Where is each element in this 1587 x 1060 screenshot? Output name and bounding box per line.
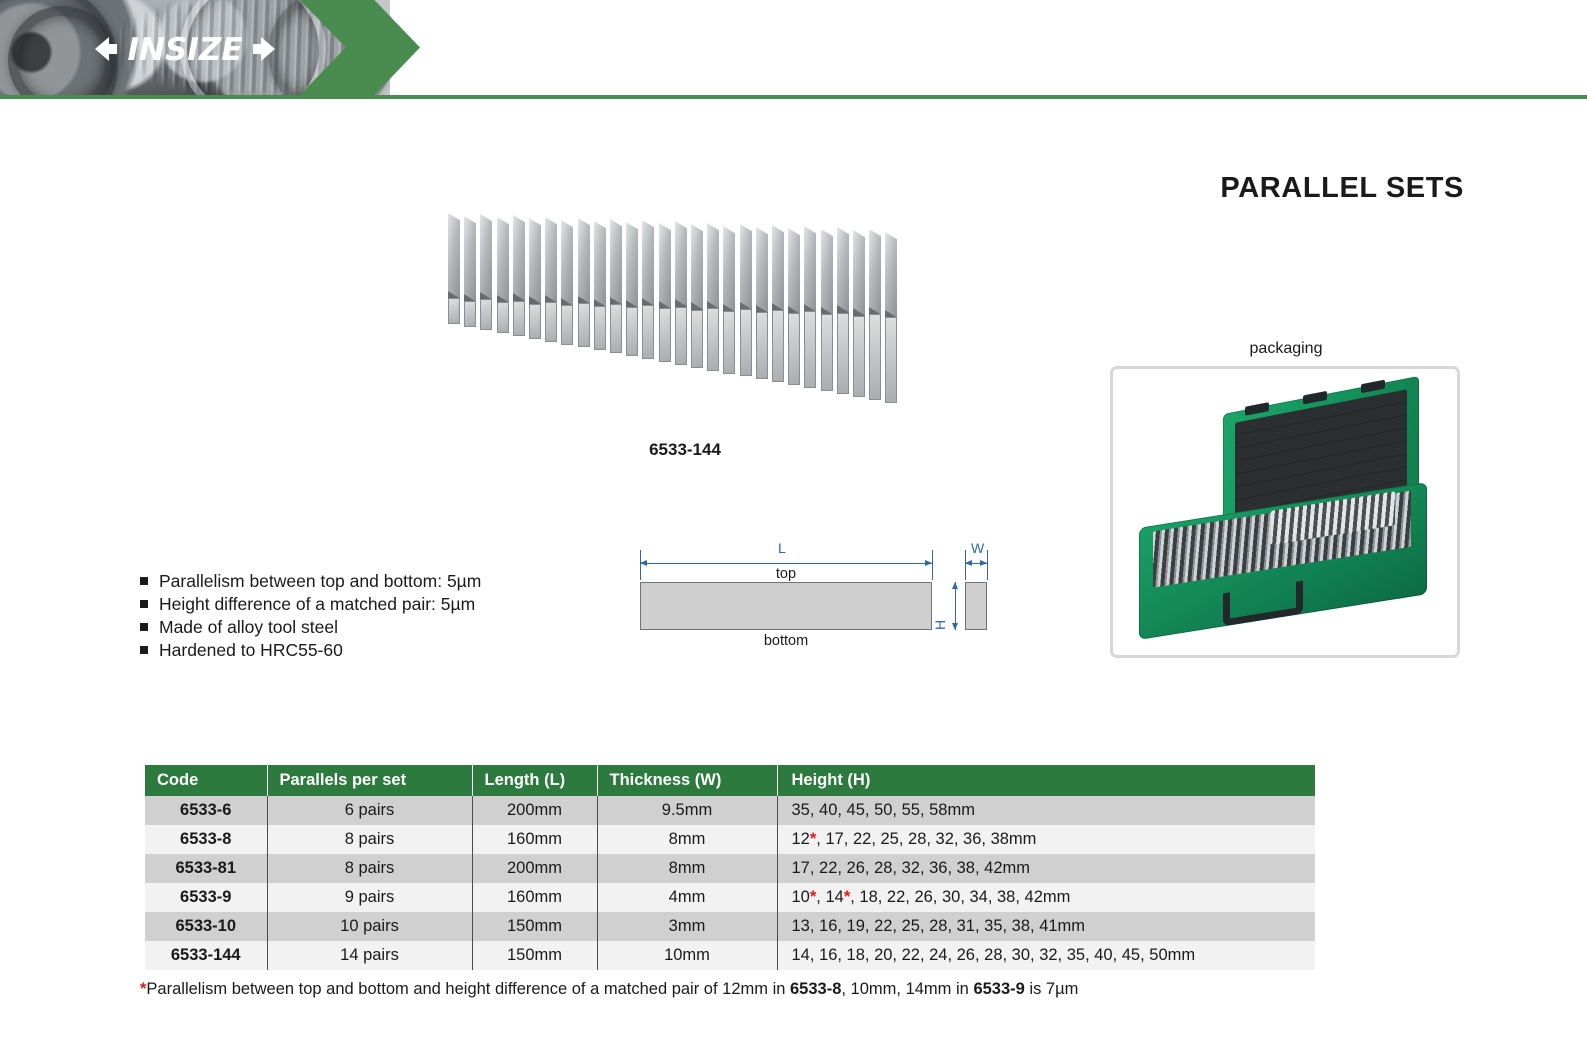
bar-end-face	[659, 308, 671, 362]
bar-top-face	[821, 229, 833, 314]
specification-table: Code Parallels per set Length (L) Thickn…	[145, 765, 1315, 970]
bar-top-face	[545, 217, 557, 302]
dim-height-label: H	[932, 620, 948, 630]
feature-text: Height difference of a matched pair: 5µm	[159, 593, 475, 616]
square-bullet-icon	[140, 577, 148, 585]
feature-text: Hardened to HRC55-60	[159, 639, 343, 662]
product-caption: 6533-144	[430, 440, 940, 460]
height-values: 17, 22, 26, 28, 32, 36, 38, 42mm	[792, 859, 1031, 877]
cell-pairs: 9 pairs	[267, 883, 472, 912]
cell-height: 13, 16, 19, 22, 25, 28, 31, 35, 38, 41mm	[777, 912, 1315, 941]
dim-width-label: W	[971, 540, 984, 556]
page-title: PARALLEL SETS	[1220, 172, 1464, 205]
insize-logo-icon: INSIZE	[95, 27, 275, 71]
bar-top-face	[448, 213, 460, 298]
height-values: 13, 16, 19, 22, 25, 28, 31, 35, 38, 41mm	[792, 917, 1086, 935]
bar-top-face	[594, 221, 606, 306]
bottom-face-label: bottom	[640, 633, 932, 649]
table-row: 6533-88 pairs160mm8mm12*, 17, 22, 25, 28…	[145, 825, 1315, 854]
dim-extension-line	[932, 550, 933, 580]
bar-end-face	[788, 313, 800, 385]
table-header-row: Code Parallels per set Length (L) Thickn…	[145, 765, 1315, 796]
footnote-text: is 7µm	[1025, 980, 1079, 998]
parallel-bar	[756, 227, 768, 372]
cell-code: 6533-81	[145, 854, 267, 883]
parallel-bar	[464, 216, 476, 320]
packaging-image-frame	[1110, 366, 1460, 658]
bar-end-face	[723, 311, 735, 374]
table-row: 6533-66 pairs200mm9.5mm35, 40, 45, 50, 5…	[145, 796, 1315, 825]
parallel-bars-illustration	[430, 190, 940, 445]
table-footnote: *Parallelism between top and bottom and …	[140, 980, 1078, 999]
parallel-bar	[853, 230, 865, 389]
height-values: 12	[792, 830, 810, 848]
carrying-case-illustration	[1139, 395, 1435, 633]
parallel-bar	[723, 226, 735, 367]
bar-top-face	[756, 227, 768, 312]
bar-end-face	[853, 316, 865, 397]
cell-length: 200mm	[472, 854, 597, 883]
dim-arrow-icon	[965, 560, 972, 566]
bar-end-face	[869, 314, 881, 400]
footnote-text: Parallelism between top and bottom and h…	[146, 980, 790, 998]
dim-arrow-icon	[925, 560, 932, 566]
bar-top-face	[869, 229, 881, 314]
bar-top-face	[675, 221, 687, 306]
dim-arrow-icon	[640, 560, 647, 566]
bar-end-face	[610, 304, 622, 353]
cell-length: 160mm	[472, 825, 597, 854]
column-header-thickness: Thickness (W)	[597, 765, 777, 796]
feature-text: Made of alloy tool steel	[159, 616, 338, 639]
column-header-height: Height (H)	[777, 765, 1315, 796]
bar-end-face	[885, 317, 897, 403]
bar-top-face	[804, 226, 816, 311]
cell-length: 200mm	[472, 796, 597, 825]
bar-end-face	[756, 312, 768, 379]
packaging-label: packaging	[1112, 340, 1460, 358]
square-bullet-icon	[140, 623, 148, 631]
cell-length: 150mm	[472, 912, 597, 941]
cell-code: 6533-8	[145, 825, 267, 854]
parallel-bar	[578, 218, 590, 340]
height-values: 14, 16, 18, 20, 22, 24, 26, 28, 30, 32, …	[792, 946, 1196, 964]
bar-end-face	[448, 298, 460, 324]
cell-height: 35, 40, 45, 50, 55, 58mm	[777, 796, 1315, 825]
parallel-bar	[610, 219, 622, 346]
parallel-side-view	[965, 582, 987, 630]
table-row: 6533-818 pairs200mm8mm17, 22, 26, 28, 32…	[145, 854, 1315, 883]
bar-end-face	[837, 313, 849, 394]
bar-end-face	[691, 310, 703, 368]
feature-text: Parallelism between top and bottom: 5µm	[159, 570, 481, 593]
dimension-diagram: L top bottom H W	[630, 530, 1010, 665]
cell-length: 150mm	[472, 941, 597, 970]
bar-top-face	[740, 224, 752, 309]
parallel-bar	[740, 224, 752, 369]
parallel-bar	[659, 223, 671, 355]
top-face-label: top	[640, 566, 932, 582]
cell-thickness: 9.5mm	[597, 796, 777, 825]
insize-logo: INSIZE	[95, 27, 275, 71]
parallel-bar	[691, 224, 703, 360]
footnote-text: , 10mm, 14mm in	[841, 980, 973, 998]
feature-item: Hardened to HRC55-60	[140, 639, 610, 662]
bar-end-face	[626, 307, 638, 356]
bar-end-face	[578, 303, 590, 347]
bar-top-face	[885, 232, 897, 317]
bar-top-face	[772, 225, 784, 310]
bar-end-face	[675, 307, 687, 365]
parallel-bar	[869, 229, 881, 393]
parallel-bar	[448, 213, 460, 317]
dim-arrow-icon	[980, 560, 987, 566]
bar-end-face	[529, 304, 541, 339]
insize-wordmark: INSIZE	[128, 32, 243, 68]
table-row: 6533-99 pairs160mm4mm10*, 14*, 18, 22, 2…	[145, 883, 1315, 912]
parallel-bar	[594, 221, 606, 343]
cell-length: 160mm	[472, 883, 597, 912]
cell-thickness: 8mm	[597, 825, 777, 854]
feature-item: Parallelism between top and bottom: 5µm	[140, 570, 610, 593]
dim-length-label: L	[778, 540, 786, 556]
bar-top-face	[513, 215, 525, 300]
cell-height: 14, 16, 18, 20, 22, 24, 26, 28, 30, 32, …	[777, 941, 1315, 970]
cell-code: 6533-6	[145, 796, 267, 825]
bar-top-face	[578, 218, 590, 303]
feature-list: Parallelism between top and bottom: 5µmH…	[140, 570, 610, 662]
cell-pairs: 14 pairs	[267, 941, 472, 970]
bar-top-face	[707, 223, 719, 308]
bar-top-face	[626, 222, 638, 307]
parallel-bar	[788, 228, 800, 378]
dim-extension-line	[987, 550, 988, 580]
bar-top-face	[659, 223, 671, 308]
dim-arrow-icon	[952, 582, 958, 589]
cell-thickness: 8mm	[597, 854, 777, 883]
footnote-code-ref: 6533-8	[790, 980, 841, 998]
header-green-rule	[0, 95, 1587, 99]
case-latch-icon	[1303, 391, 1327, 405]
cell-pairs: 8 pairs	[267, 854, 472, 883]
height-values: , 14	[816, 888, 844, 906]
bar-end-face	[545, 302, 557, 342]
height-values: 10	[792, 888, 810, 906]
cell-height: 10*, 14*, 18, 22, 26, 30, 34, 38, 42mm	[777, 883, 1315, 912]
bar-top-face	[561, 220, 573, 305]
bar-top-face	[497, 217, 509, 302]
feature-item: Height difference of a matched pair: 5µm	[140, 593, 610, 616]
bar-top-face	[642, 220, 654, 305]
parallel-front-view	[640, 582, 932, 630]
bar-end-face	[594, 306, 606, 350]
bar-top-face	[610, 219, 622, 304]
case-latch-icon	[1361, 380, 1385, 394]
parallel-bar	[561, 220, 573, 338]
cell-thickness: 4mm	[597, 883, 777, 912]
parallel-bar	[497, 217, 509, 326]
cell-pairs: 6 pairs	[267, 796, 472, 825]
cell-height: 12*, 17, 22, 25, 28, 32, 36, 38mm	[777, 825, 1315, 854]
column-header-code: Code	[145, 765, 267, 796]
square-bullet-icon	[140, 646, 148, 654]
parallel-bar	[642, 220, 654, 352]
table-row: 6533-14414 pairs150mm10mm14, 16, 18, 20,…	[145, 941, 1315, 970]
bar-top-face	[464, 216, 476, 301]
bar-top-face	[723, 226, 735, 311]
parallel-bar	[707, 223, 719, 364]
parallel-bar	[821, 229, 833, 384]
square-bullet-icon	[140, 600, 148, 608]
cell-thickness: 3mm	[597, 912, 777, 941]
parallel-bar	[675, 221, 687, 357]
parallel-bar	[772, 225, 784, 375]
parallel-bar	[804, 226, 816, 381]
bar-end-face	[497, 302, 509, 333]
product-photo	[430, 190, 940, 445]
cell-code: 6533-10	[145, 912, 267, 941]
bar-end-face	[561, 305, 573, 345]
bar-end-face	[804, 311, 816, 388]
height-values: , 18, 22, 26, 30, 34, 38, 42mm	[850, 888, 1070, 906]
parallel-bar	[513, 215, 525, 328]
cell-height: 17, 22, 26, 28, 32, 36, 38, 42mm	[777, 854, 1315, 883]
cell-code: 6533-144	[145, 941, 267, 970]
bar-end-face	[821, 314, 833, 391]
footnote-code-ref: 6533-9	[973, 980, 1024, 998]
bar-end-face	[740, 309, 752, 376]
bar-end-face	[642, 305, 654, 359]
dim-length-line	[640, 563, 932, 564]
cell-thickness: 10mm	[597, 941, 777, 970]
parallel-bar	[480, 214, 492, 323]
bar-top-face	[788, 228, 800, 313]
bar-top-face	[480, 214, 492, 299]
height-values: 35, 40, 45, 50, 55, 58mm	[792, 801, 975, 819]
parallel-bar	[545, 217, 557, 335]
cell-pairs: 8 pairs	[267, 825, 472, 854]
height-values: , 17, 22, 25, 28, 32, 36, 38mm	[816, 830, 1036, 848]
bar-end-face	[707, 308, 719, 371]
bar-end-face	[772, 310, 784, 382]
column-header-pairs: Parallels per set	[267, 765, 472, 796]
bar-end-face	[480, 299, 492, 330]
bar-end-face	[513, 301, 525, 336]
table-row: 6533-1010 pairs150mm3mm13, 16, 19, 22, 2…	[145, 912, 1315, 941]
parallel-bar	[837, 227, 849, 386]
parallel-bar	[529, 218, 541, 331]
parallel-bar	[626, 222, 638, 349]
feature-item: Made of alloy tool steel	[140, 616, 610, 639]
bar-top-face	[853, 230, 865, 315]
parallel-bar	[885, 232, 897, 396]
dim-arrow-icon	[952, 623, 958, 630]
bar-top-face	[837, 227, 849, 312]
page-header: INSIZE	[0, 0, 1587, 98]
bar-top-face	[691, 224, 703, 309]
bar-top-face	[529, 218, 541, 303]
column-header-length: Length (L)	[472, 765, 597, 796]
cell-code: 6533-9	[145, 883, 267, 912]
cell-pairs: 10 pairs	[267, 912, 472, 941]
case-latch-icon	[1245, 402, 1269, 416]
bar-end-face	[464, 301, 476, 327]
